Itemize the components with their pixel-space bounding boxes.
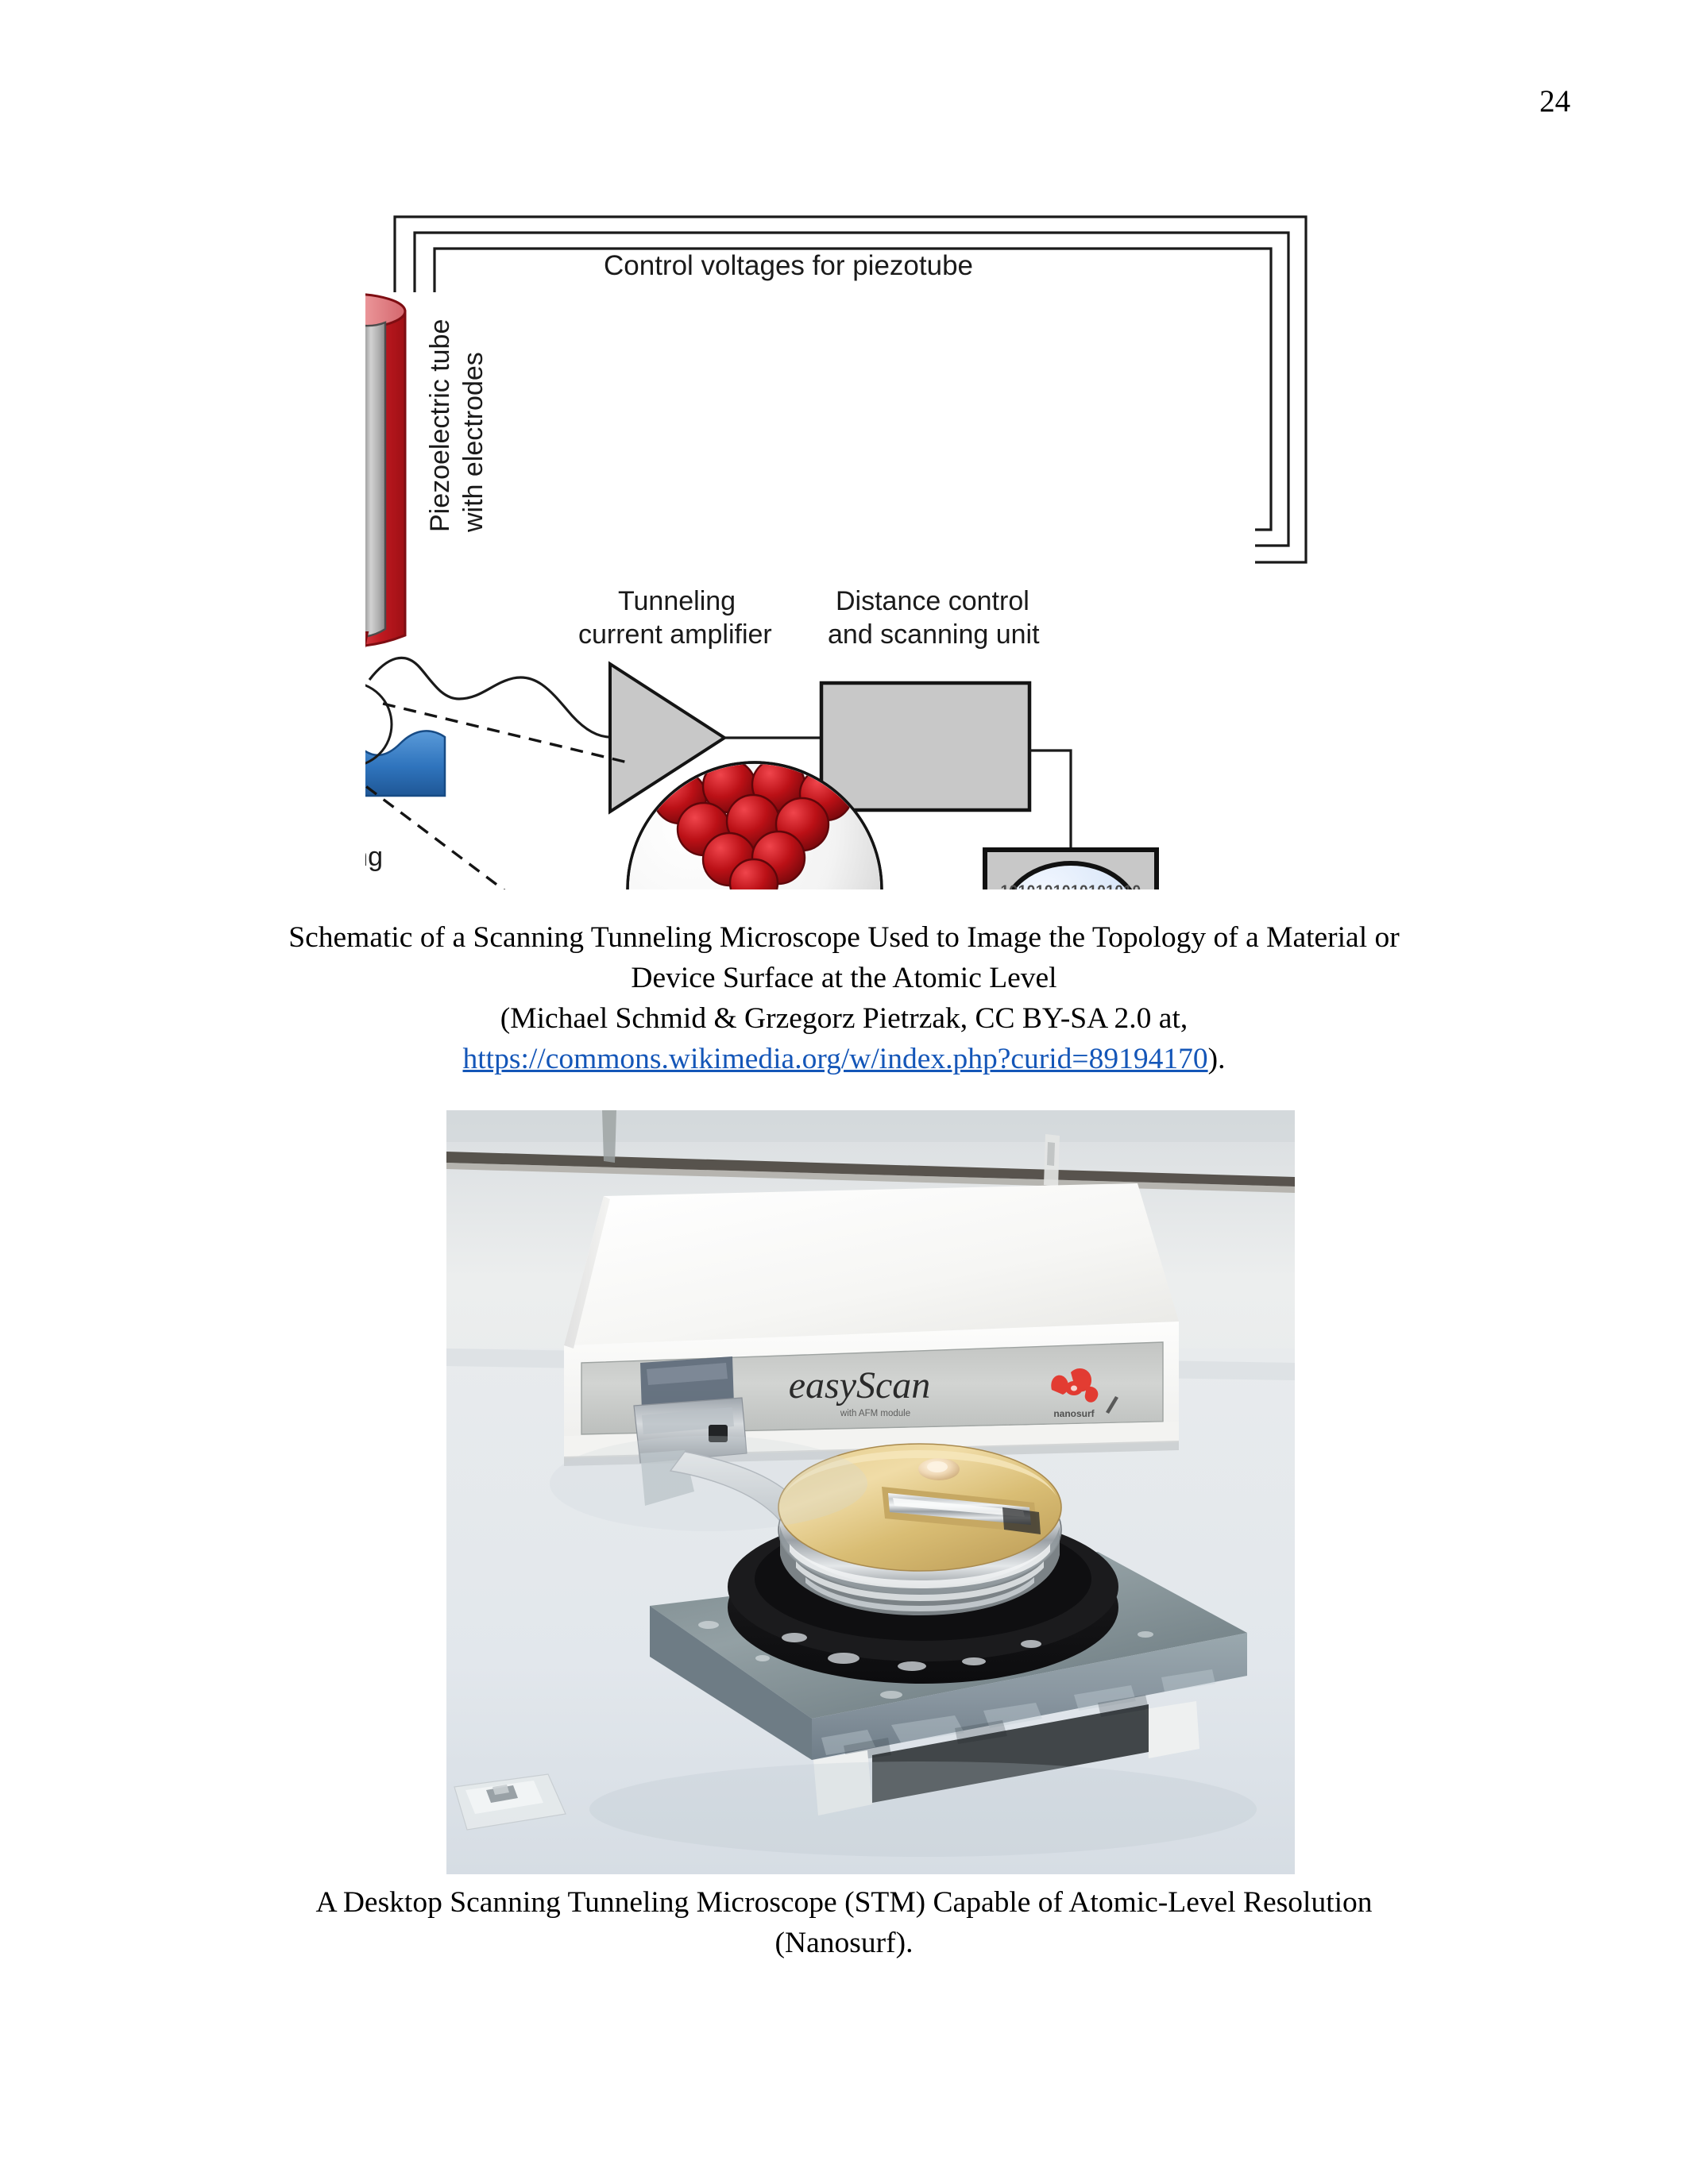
- photo-caption-line-2: (Nanosurf).: [147, 1923, 1541, 1963]
- svg-text:Piezoelectric tube: Piezoelectric tube: [425, 319, 455, 532]
- photo-caption: A Desktop Scanning Tunneling Microscope …: [147, 1882, 1541, 1963]
- stm-schematic-figure: Control voltages for piezotube: [365, 191, 1342, 889]
- svg-text:with electrodes: with electrodes: [458, 352, 489, 533]
- sample-surface: [365, 731, 445, 796]
- caption-line-1: Schematic of a Scanning Tunneling Micros…: [147, 917, 1541, 958]
- document-page: 24: [0, 0, 1688, 2184]
- piezoelectric-tube: [365, 294, 405, 718]
- device-brand-text: easyScan: [789, 1364, 931, 1406]
- label-distance-control: Distance control and scanning unit: [828, 586, 1040, 650]
- schematic-caption: Schematic of a Scanning Tunneling Micros…: [147, 917, 1541, 1079]
- nanosurf-logo-text: nanosurf: [1053, 1408, 1095, 1419]
- wikimedia-source-link[interactable]: https://commons.wikimedia.org/w/index.ph…: [463, 1043, 1208, 1075]
- label-tunneling-amplifier: Tunneling current amplifier: [578, 586, 772, 650]
- page-number: 24: [1539, 86, 1570, 117]
- caption-line-3: (Michael Schmid & Grzegorz Pietrzak, CC …: [147, 998, 1541, 1039]
- svg-text:Tunneling: Tunneling: [618, 586, 736, 616]
- stm-device-photograph: easyScan with AFM module nanosurf: [446, 1110, 1295, 1874]
- svg-text:current amplifier: current amplifier: [578, 619, 772, 650]
- label-tunneling-voltage: Tunneling voltage: [365, 842, 383, 889]
- label-piezoelectric-tube: Piezoelectric tube with electrodes: [425, 319, 489, 533]
- photo-caption-line-1: A Desktop Scanning Tunneling Microscope …: [147, 1882, 1541, 1923]
- caption-link-suffix: ).: [1208, 1043, 1226, 1075]
- label-control-voltages: Control voltages for piezotube: [604, 250, 973, 281]
- svg-text:Tunneling: Tunneling: [365, 842, 383, 872]
- distance-control-box: [821, 683, 1029, 810]
- tunneling-current-wire: [369, 658, 610, 737]
- svg-text:and scanning unit: and scanning unit: [828, 619, 1040, 650]
- caption-line-2: Device Surface at the Atomic Level: [147, 958, 1541, 998]
- control-to-display-wire: [1029, 751, 1071, 850]
- binary-stream-text: 1010101010101010: [1000, 883, 1141, 889]
- data-processing-display: 1010101010101010: [985, 850, 1157, 889]
- caption-line-4: https://commons.wikimedia.org/w/index.ph…: [147, 1039, 1541, 1079]
- device-subtitle-text: with AFM module: [840, 1409, 910, 1418]
- svg-text:Distance control: Distance control: [836, 586, 1029, 616]
